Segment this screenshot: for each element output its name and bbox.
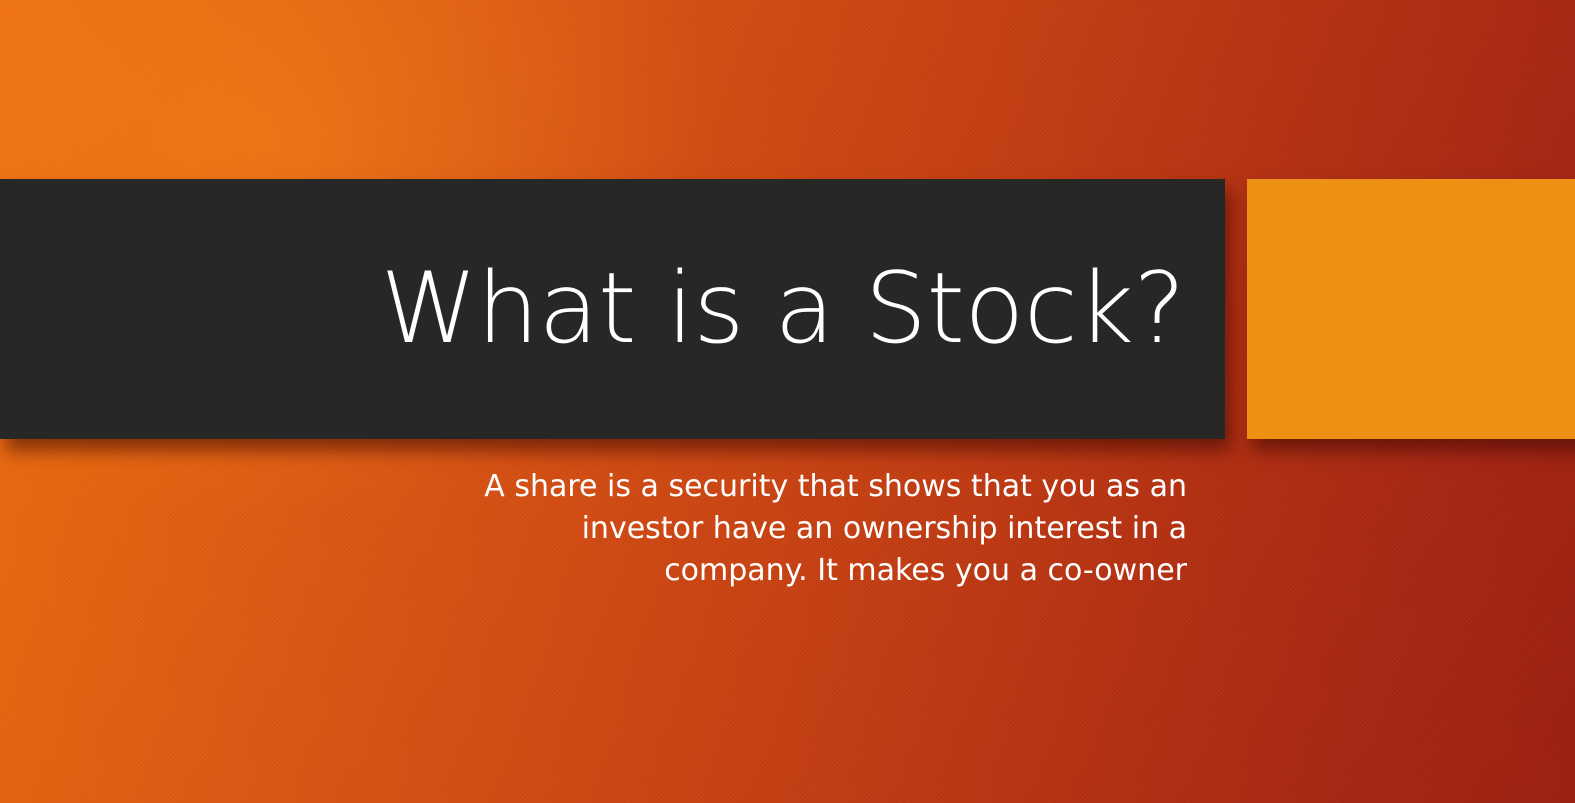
title-slide: What is a Stock? A share is a security t… [0,0,1575,803]
accent-block [1247,179,1575,439]
subtitle-line: investor have an ownership interest in a [300,508,1187,550]
subtitle-line: company. It makes you a co-owner [300,550,1187,592]
slide-title: What is a Stock? [0,179,1185,439]
slide-subtitle: A share is a security that shows that yo… [300,466,1187,592]
subtitle-line: A share is a security that shows that yo… [300,466,1187,508]
